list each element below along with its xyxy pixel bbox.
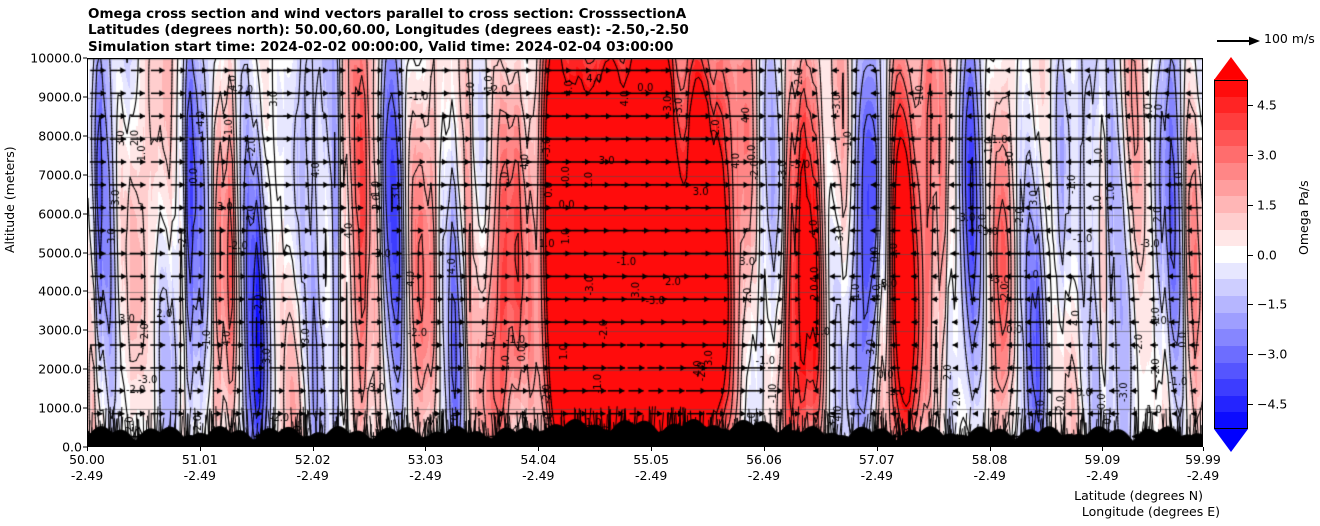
x-tick-label-longitude: -2.49 [408,468,444,484]
y-tick-mark [83,135,87,136]
y-tick-mark [83,369,87,370]
colorbar-tick-label: −4.5 [1257,397,1287,412]
x-tick-mark [425,447,426,451]
x-tick-label-group: 55.05-2.49 [633,452,669,484]
x-tick-label-group: 58.08-2.49 [972,452,1008,484]
x-tick-label-latitude: 53.03 [408,452,444,468]
colorbar-tick-label: −3.0 [1257,347,1287,362]
x-tick-label-longitude: -2.49 [972,468,1008,484]
colorbar-tick-mark [1248,205,1253,206]
x-tick-label-longitude: -2.49 [69,468,105,484]
x-tick-label-longitude: -2.49 [746,468,782,484]
x-tick-mark [87,447,88,451]
x-tick-label-group: 50.00-2.49 [69,452,105,484]
colorbar-tick-label: 4.5 [1257,97,1277,112]
x-tick-label-longitude: -2.49 [520,468,556,484]
x-tick-mark [200,447,201,451]
colorbar-tick-mark [1248,404,1253,405]
y-tick-label: 7000.0 [38,167,82,182]
quiver-key-label: 100 m/s [1264,31,1315,46]
y-tick-label: 10000.0 [30,51,82,66]
x-tick-label-longitude: -2.49 [295,468,331,484]
colorbar-tick-mark [1248,155,1253,156]
x-tick-label-longitude: -2.49 [633,468,669,484]
colorbar-tick-mark [1248,255,1253,256]
colorbar-tick-label: 3.0 [1257,147,1277,162]
x-tick-mark [990,447,991,451]
y-tick-mark [83,174,87,175]
colorbar-extend-max-arrow [1214,57,1248,80]
y-axis-label: Altitude (meters) [2,146,17,253]
x-tick-label-group: 59.09-2.49 [1085,452,1121,484]
x-tick-label-group: 56.06-2.49 [746,452,782,484]
x-tick-label-group: 57.07-2.49 [859,452,895,484]
x-tick-label-latitude: 55.05 [633,452,669,468]
y-tick-mark [83,213,87,214]
y-tick-mark [83,96,87,97]
title-line-2: Latitudes (degrees north): 50.00,60.00, … [88,22,689,38]
x-axis-label-latitude: Latitude (degrees N) [0,488,1203,503]
title-line-1: Omega cross section and wind vectors par… [88,6,689,22]
x-tick-label-group: 52.02-2.49 [295,452,331,484]
colorbar-extend-min-arrow [1214,429,1248,452]
y-tick-mark [83,58,87,59]
y-tick-label: 4000.0 [38,284,82,299]
y-tick-mark [83,291,87,292]
y-tick-mark [83,252,87,253]
cross-section-plot-area [87,58,1203,447]
x-tick-mark [538,447,539,451]
x-tick-label-group: 54.04-2.49 [520,452,556,484]
x-tick-label-longitude: -2.49 [182,468,218,484]
colorbar-label: Omega Pa/s [1296,180,1311,255]
y-tick-label: 5000.0 [38,245,82,260]
x-tick-label-latitude: 59.09 [1085,452,1121,468]
x-tick-mark [1203,447,1204,451]
x-tick-label-latitude: 51.01 [182,452,218,468]
x-tick-label-latitude: 52.02 [295,452,331,468]
colorbar-tick-mark [1248,354,1253,355]
x-tick-mark [313,447,314,451]
x-tick-mark [764,447,765,451]
title-line-3: Simulation start time: 2024-02-02 00:00:… [88,39,689,55]
x-tick-label-latitude: 56.06 [746,452,782,468]
x-tick-label-longitude: -2.49 [1185,468,1221,484]
y-tick-label: 9000.0 [38,89,82,104]
x-tick-label-group: 51.01-2.49 [182,452,218,484]
x-tick-label-longitude: -2.49 [1085,468,1121,484]
y-tick-label: 3000.0 [38,323,82,338]
x-tick-mark [1102,447,1103,451]
colorbar [1214,57,1248,452]
x-tick-label-latitude: 58.08 [972,452,1008,468]
colorbar-tick-mark [1248,304,1253,305]
x-tick-mark [877,447,878,451]
x-tick-label-latitude: 50.00 [69,452,105,468]
y-tick-label: 6000.0 [38,206,82,221]
y-tick-mark [83,330,87,331]
colorbar-tick-mark [1248,105,1253,106]
x-tick-label-latitude: 54.04 [520,452,556,468]
y-tick-label: 1000.0 [38,401,82,416]
omega-field-canvas [88,59,1203,447]
x-tick-label-group: 59.99-2.49 [1185,452,1221,484]
x-tick-label-latitude: 59.99 [1185,452,1221,468]
x-tick-label-latitude: 57.07 [859,452,895,468]
figure-title: Omega cross section and wind vectors par… [88,6,689,55]
colorbar-tick-label: −1.5 [1257,297,1287,312]
x-axis-label-longitude: Longitude (degrees E) [0,504,1220,519]
quiver-key: 100 m/s [1216,31,1320,51]
x-tick-label-longitude: -2.49 [859,468,895,484]
y-tick-label: 8000.0 [38,128,82,143]
colorbar-tick-label: 0.0 [1257,247,1277,262]
figure-canvas: Omega cross section and wind vectors par… [0,0,1320,526]
wind-arrow-icon [1216,34,1262,48]
colorbar-tick-label: 1.5 [1257,197,1277,212]
y-tick-label: 2000.0 [38,362,82,377]
x-tick-mark [651,447,652,451]
x-tick-label-group: 53.03-2.49 [408,452,444,484]
colorbar-frame [1214,80,1248,429]
y-tick-mark [83,408,87,409]
